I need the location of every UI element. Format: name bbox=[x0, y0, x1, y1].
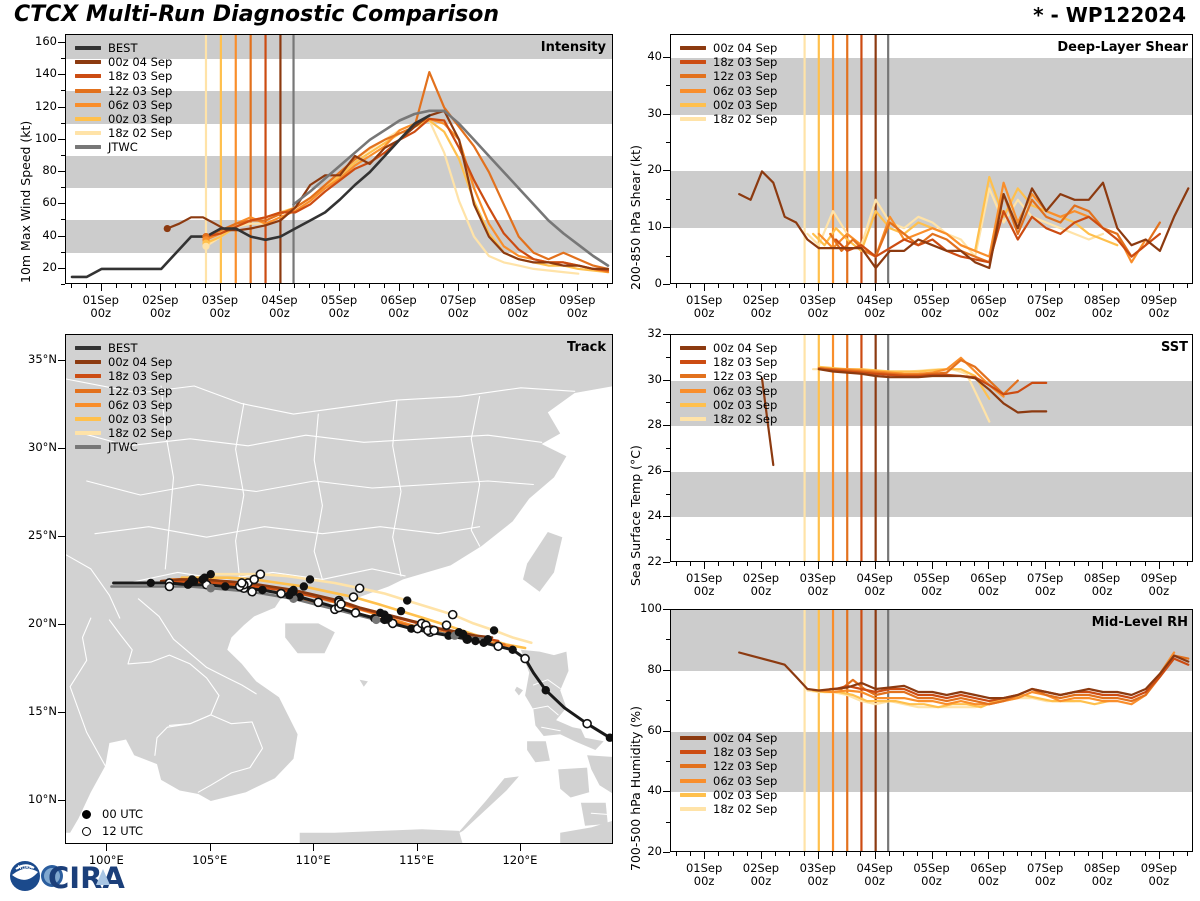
x-axis-minor-tick bbox=[1187, 284, 1188, 288]
panay-island bbox=[558, 768, 589, 798]
y-axis-tick-label: 24 bbox=[624, 510, 662, 522]
y-axis-minor-tick bbox=[666, 539, 670, 540]
x-axis-minor-tick bbox=[832, 852, 833, 856]
x-axis-minor-tick bbox=[1059, 562, 1060, 566]
y-axis-tick-label: 10 bbox=[624, 221, 662, 233]
y-axis-tick-label: 60 bbox=[624, 725, 662, 737]
map-y-axis-tick bbox=[58, 800, 65, 801]
y-axis-tick bbox=[58, 203, 65, 204]
y-axis-tick bbox=[663, 380, 670, 381]
svg-text:CIRA: CIRA bbox=[48, 861, 125, 895]
x-axis-minor-tick bbox=[946, 562, 947, 566]
x-axis-minor-tick bbox=[960, 852, 961, 856]
x-axis-minor-tick bbox=[1003, 284, 1004, 288]
track-point-00utc bbox=[403, 596, 411, 604]
x-tick-date: 05Sep bbox=[321, 293, 357, 307]
x-axis-minor-tick bbox=[789, 852, 790, 856]
track-point-00utc bbox=[397, 607, 405, 615]
palawan-island bbox=[457, 776, 519, 834]
intensity-panel-label: Intensity bbox=[541, 40, 606, 55]
x-tick-date: 01Sep bbox=[83, 293, 119, 307]
track-legend-item: 00z 04 Sep bbox=[75, 355, 172, 369]
x-axis-minor-tick bbox=[718, 852, 719, 856]
x-axis-minor-tick bbox=[1031, 284, 1032, 288]
legend-color-swatch bbox=[75, 131, 101, 135]
x-axis-minor-tick bbox=[860, 284, 861, 288]
storm-id-label: * - WP122024 bbox=[1033, 3, 1186, 27]
map-x-axis-tick-label: 115°E bbox=[382, 854, 452, 867]
x-axis-tick bbox=[761, 562, 762, 569]
track-point-00utc bbox=[471, 637, 479, 645]
track-point-12utc bbox=[442, 621, 450, 629]
init-point-marker bbox=[164, 225, 171, 232]
x-tick-date: 01Sep bbox=[686, 861, 722, 875]
legend-item-label: 00z 04 Sep bbox=[713, 341, 777, 355]
x-axis-minor-tick bbox=[733, 562, 734, 566]
x-axis-minor-tick bbox=[145, 284, 146, 288]
y-axis-tick bbox=[663, 852, 670, 853]
y-axis-tick-label: 120 bbox=[19, 101, 57, 113]
x-axis-minor-tick bbox=[733, 852, 734, 856]
panel-shear: 200-850 hPa Shear (kt) Deep-Layer Shear … bbox=[610, 28, 1200, 328]
x-axis-minor-tick bbox=[413, 284, 414, 288]
y-axis-tick-label: 100 bbox=[19, 133, 57, 145]
intensity-legend-item: 12z 03 Sep bbox=[75, 84, 172, 98]
y-axis-tick bbox=[663, 731, 670, 732]
x-axis-minor-tick bbox=[775, 284, 776, 288]
legend-item-label: 18z 02 Sep bbox=[713, 802, 777, 816]
map-y-axis-tick bbox=[58, 536, 65, 537]
x-axis-minor-tick bbox=[1187, 562, 1188, 566]
map-y-axis-tick bbox=[58, 360, 65, 361]
x-axis-tick bbox=[875, 562, 876, 569]
legend-item-label: BEST bbox=[108, 41, 137, 55]
x-axis-minor-tick bbox=[1031, 852, 1032, 856]
x-tick-date: 08Sep bbox=[500, 293, 536, 307]
y-axis-minor-tick bbox=[666, 256, 670, 257]
x-axis-minor-tick bbox=[1059, 284, 1060, 288]
x-tick-date: 06Sep bbox=[970, 571, 1006, 585]
y-axis-tick bbox=[663, 334, 670, 335]
x-axis-minor-tick bbox=[1173, 562, 1174, 566]
x-tick-date: 02Sep bbox=[743, 861, 779, 875]
marker-legend-label: 12 UTC bbox=[102, 823, 143, 840]
y-axis-tick bbox=[663, 284, 670, 285]
legend-item-label: 06z 03 Sep bbox=[713, 774, 777, 788]
legend-color-swatch bbox=[680, 807, 706, 811]
legend-item-label: 12z 03 Sep bbox=[108, 84, 172, 98]
x-axis-minor-tick bbox=[960, 284, 961, 288]
legend-item-label: 06z 03 Sep bbox=[108, 398, 172, 412]
x-axis-minor-tick bbox=[804, 284, 805, 288]
x-axis-minor-tick bbox=[903, 852, 904, 856]
marker-legend-label: 00 UTC bbox=[102, 806, 143, 823]
legend-color-swatch bbox=[680, 750, 706, 754]
y-axis-tick-label: 30 bbox=[624, 108, 662, 120]
x-axis-minor-tick bbox=[294, 284, 295, 288]
track-legend-item: 18z 03 Sep bbox=[75, 369, 172, 383]
track-legend-item: BEST bbox=[75, 341, 172, 355]
legend-item-label: 18z 03 Sep bbox=[713, 55, 777, 69]
x-tick-hour: 00z bbox=[1124, 875, 1194, 888]
y-axis-tick bbox=[663, 562, 670, 563]
paracel-islands bbox=[360, 680, 368, 687]
shear-legend-item: 00z 03 Sep bbox=[680, 98, 777, 112]
track-point-12utc bbox=[352, 609, 360, 617]
x-tick-date: 07Sep bbox=[1027, 571, 1063, 585]
x-axis-tick bbox=[875, 284, 876, 291]
init-point-marker bbox=[202, 243, 209, 250]
x-axis-tick-label: 09Sep00z bbox=[1124, 294, 1194, 320]
x-axis-tick bbox=[704, 562, 705, 569]
x-tick-date: 09Sep bbox=[1141, 571, 1177, 585]
track-point-12utc bbox=[256, 570, 264, 578]
x-axis-minor-tick bbox=[946, 852, 947, 856]
x-tick-date: 06Sep bbox=[970, 861, 1006, 875]
x-axis-tick bbox=[220, 284, 221, 291]
legend-item-label: JTWC bbox=[108, 440, 138, 454]
panel-intensity: 10m Max Wind Speed (kt) Intensity BEST00… bbox=[0, 28, 620, 328]
legend-item-label: 00z 04 Sep bbox=[108, 55, 172, 69]
x-tick-date: 07Sep bbox=[440, 293, 476, 307]
x-axis-minor-tick bbox=[1145, 562, 1146, 566]
y-axis-tick bbox=[663, 170, 670, 171]
x-tick-date: 09Sep bbox=[559, 293, 595, 307]
map-y-axis-tick-label: 20°N bbox=[9, 618, 57, 630]
x-axis-tick bbox=[1159, 284, 1160, 291]
map-y-axis-tick bbox=[58, 624, 65, 625]
legend-color-swatch bbox=[680, 779, 706, 783]
map-y-axis-tick-label: 35°N bbox=[9, 354, 57, 366]
x-axis-tick bbox=[988, 852, 989, 859]
legend-item-label: 18z 03 Sep bbox=[108, 69, 172, 83]
sst-legend-item: 18z 02 Sep bbox=[680, 412, 777, 426]
legend-item-label: BEST bbox=[108, 341, 137, 355]
x-axis-tick bbox=[279, 284, 280, 291]
x-axis-minor-tick bbox=[1088, 284, 1089, 288]
y-axis-tick-label: 140 bbox=[19, 68, 57, 80]
x-tick-date: 07Sep bbox=[1027, 861, 1063, 875]
x-axis-minor-tick bbox=[175, 284, 176, 288]
luzon-island bbox=[521, 650, 604, 750]
noaa-emblem-icon: NOAA bbox=[10, 861, 40, 891]
data-series-line bbox=[836, 659, 1188, 702]
x-axis-minor-tick bbox=[1074, 284, 1075, 288]
y-axis-tick bbox=[663, 609, 670, 610]
y-axis-minor-tick bbox=[61, 58, 65, 59]
legend-color-swatch bbox=[75, 403, 101, 407]
track-point-12utc bbox=[583, 720, 591, 728]
legend-item-label: 00z 03 Sep bbox=[108, 412, 172, 426]
legend-item-label: 18z 02 Sep bbox=[713, 112, 777, 126]
x-axis-minor-tick bbox=[860, 852, 861, 856]
y-axis-tick bbox=[58, 42, 65, 43]
track-point-12utc bbox=[430, 626, 438, 634]
x-axis-minor-tick bbox=[789, 284, 790, 288]
legend-item-label: 06z 03 Sep bbox=[713, 384, 777, 398]
x-axis-tick bbox=[761, 852, 762, 859]
y-axis-minor-tick bbox=[666, 761, 670, 762]
x-axis-minor-tick bbox=[1017, 284, 1018, 288]
legend-color-swatch bbox=[680, 46, 706, 50]
x-tick-date: 02Sep bbox=[743, 571, 779, 585]
x-axis-minor-tick bbox=[804, 852, 805, 856]
mindoro-island bbox=[527, 741, 550, 762]
legend-color-swatch bbox=[75, 445, 101, 449]
x-axis-minor-tick bbox=[86, 284, 87, 288]
x-axis-minor-tick bbox=[1116, 562, 1117, 566]
x-axis-minor-tick bbox=[747, 284, 748, 288]
x-tick-date: 08Sep bbox=[1084, 861, 1120, 875]
track-point-00utc bbox=[147, 579, 155, 587]
diagnostic-comparison-page: CTCX Multi-Run Diagnostic Comparison * -… bbox=[0, 0, 1200, 900]
x-axis-minor-tick bbox=[889, 284, 890, 288]
panel-sst: Sea Surface Temp (°C) SST 00z 04 Sep18z … bbox=[610, 328, 1200, 603]
y-axis-minor-tick bbox=[61, 252, 65, 253]
x-axis-minor-tick bbox=[1116, 852, 1117, 856]
x-axis-tick bbox=[761, 284, 762, 291]
legend-item-label: 18z 03 Sep bbox=[713, 745, 777, 759]
legend-item-label: 12z 03 Sep bbox=[713, 759, 777, 773]
y-axis-minor-tick bbox=[61, 187, 65, 188]
taiwan-island bbox=[523, 532, 562, 592]
y-axis-tick bbox=[663, 227, 670, 228]
x-tick-date: 05Sep bbox=[913, 293, 949, 307]
intensity-legend-item: BEST bbox=[75, 41, 172, 55]
y-axis-tick-label: 32 bbox=[624, 328, 662, 340]
y-axis-tick-label: 40 bbox=[624, 51, 662, 63]
shear-legend-item: 12z 03 Sep bbox=[680, 69, 777, 83]
sst-panel-label: SST bbox=[1161, 340, 1188, 355]
intensity-legend-item: 18z 03 Sep bbox=[75, 69, 172, 83]
track-point-12utc bbox=[165, 582, 173, 590]
rh-legend: 00z 04 Sep18z 03 Sep12z 03 Sep06z 03 Sep… bbox=[680, 731, 777, 816]
legend-color-swatch bbox=[680, 389, 706, 393]
x-axis-minor-tick bbox=[1088, 562, 1089, 566]
track-legend-item: 06z 03 Sep bbox=[75, 398, 172, 412]
legend-item-label: 00z 03 Sep bbox=[713, 788, 777, 802]
legend-color-swatch bbox=[75, 417, 101, 421]
y-axis-minor-tick bbox=[666, 199, 670, 200]
x-axis-tick bbox=[932, 562, 933, 569]
x-tick-date: 09Sep bbox=[1141, 861, 1177, 875]
track-point-00utc bbox=[258, 586, 266, 594]
y-axis-minor-tick bbox=[61, 155, 65, 156]
x-axis-minor-tick bbox=[1116, 284, 1117, 288]
legend-color-swatch bbox=[680, 374, 706, 378]
y-axis-tick-label: 100 bbox=[624, 603, 662, 615]
map-y-axis-tick-label: 25°N bbox=[9, 530, 57, 542]
x-axis-tick bbox=[818, 284, 819, 291]
x-tick-hour: 00z bbox=[542, 307, 612, 320]
legend-color-swatch bbox=[75, 103, 101, 107]
x-axis-minor-tick bbox=[190, 284, 191, 288]
x-axis-minor-tick bbox=[1003, 562, 1004, 566]
x-axis-minor-tick bbox=[1187, 852, 1188, 856]
legend-item-label: 12z 03 Sep bbox=[108, 384, 172, 398]
y-axis-tick bbox=[663, 425, 670, 426]
intensity-legend-item: 18z 02 Sep bbox=[75, 126, 172, 140]
y-axis-tick bbox=[58, 236, 65, 237]
rh-legend-item: 12z 03 Sep bbox=[680, 759, 777, 773]
x-axis-tick bbox=[518, 284, 519, 291]
map-x-axis-tick bbox=[417, 844, 418, 851]
x-axis-minor-tick bbox=[747, 852, 748, 856]
x-axis-tick bbox=[577, 284, 578, 291]
sst-legend-item: 00z 04 Sep bbox=[680, 341, 777, 355]
y-axis-minor-tick bbox=[666, 357, 670, 358]
track-point-12utc bbox=[238, 579, 246, 587]
y-axis-minor-tick bbox=[666, 85, 670, 86]
legend-color-swatch bbox=[680, 417, 706, 421]
x-axis-minor-tick bbox=[369, 284, 370, 288]
y-axis-minor-tick bbox=[61, 284, 65, 285]
legend-color-swatch bbox=[75, 89, 101, 93]
x-axis-minor-tick bbox=[832, 562, 833, 566]
rh-panel-label: Mid-Level RH bbox=[1092, 615, 1188, 630]
x-axis-tick bbox=[932, 284, 933, 291]
x-axis-minor-tick bbox=[205, 284, 206, 288]
small-island bbox=[515, 687, 523, 696]
legend-color-swatch bbox=[680, 360, 706, 364]
x-axis-tick bbox=[1045, 284, 1046, 291]
y-axis-tick bbox=[663, 114, 670, 115]
x-axis-minor-tick bbox=[718, 562, 719, 566]
track-point-00utc bbox=[188, 575, 196, 583]
x-tick-date: 05Sep bbox=[913, 571, 949, 585]
filled-dot-icon bbox=[82, 810, 91, 819]
map-y-axis-tick bbox=[58, 448, 65, 449]
legend-item-label: 00z 04 Sep bbox=[713, 41, 777, 55]
map-x-axis-tick bbox=[313, 844, 314, 851]
x-axis-tick bbox=[1102, 852, 1103, 859]
legend-item-label: 00z 04 Sep bbox=[713, 731, 777, 745]
legend-color-swatch bbox=[680, 346, 706, 350]
x-axis-minor-tick bbox=[903, 284, 904, 288]
x-axis-minor-tick bbox=[676, 852, 677, 856]
x-axis-minor-tick bbox=[1130, 852, 1131, 856]
sst-legend-item: 06z 03 Sep bbox=[680, 384, 777, 398]
y-axis-minor-tick bbox=[61, 219, 65, 220]
track-point-00utc bbox=[490, 626, 498, 634]
track-point-00utc bbox=[207, 570, 215, 578]
legend-item-label: 12z 03 Sep bbox=[713, 69, 777, 83]
x-axis-minor-tick bbox=[592, 284, 593, 288]
map-y-axis-tick-label: 10°N bbox=[9, 794, 57, 806]
x-axis-minor-tick bbox=[775, 562, 776, 566]
track-point-12utc bbox=[349, 593, 357, 601]
data-series-line bbox=[813, 177, 1117, 251]
x-axis-minor-tick bbox=[324, 284, 325, 288]
x-axis-minor-tick bbox=[1088, 852, 1089, 856]
y-axis-tick-label: 28 bbox=[624, 419, 662, 431]
intensity-legend-item: 06z 03 Sep bbox=[75, 98, 172, 112]
x-axis-tick bbox=[988, 284, 989, 291]
y-axis-tick-label: 20 bbox=[624, 164, 662, 176]
map-x-axis-tick-label: 120°E bbox=[485, 854, 555, 867]
legend-color-swatch bbox=[680, 736, 706, 740]
x-axis-tick bbox=[875, 852, 876, 859]
track-marker-legend: 00 UTC12 UTC bbox=[78, 806, 143, 840]
legend-color-swatch bbox=[680, 403, 706, 407]
x-axis-minor-tick bbox=[676, 284, 677, 288]
open-dot-icon bbox=[82, 827, 91, 836]
legend-item-label: 18z 03 Sep bbox=[713, 355, 777, 369]
rh-legend-item: 06z 03 Sep bbox=[680, 774, 777, 788]
legend-item-label: 18z 02 Sep bbox=[713, 412, 777, 426]
x-axis-minor-tick bbox=[1074, 562, 1075, 566]
track-point-12utc bbox=[277, 590, 285, 598]
page-title: CTCX Multi-Run Diagnostic Comparison bbox=[14, 2, 499, 27]
map-x-axis-tick-label: 110°E bbox=[278, 854, 348, 867]
y-axis-minor-tick bbox=[666, 142, 670, 143]
x-axis-minor-tick bbox=[1145, 284, 1146, 288]
x-axis-tick bbox=[1102, 284, 1103, 291]
y-axis-tick-label: 30 bbox=[624, 374, 662, 386]
y-axis-tick-label: 40 bbox=[624, 785, 662, 797]
x-axis-minor-tick bbox=[1173, 852, 1174, 856]
map-x-axis-tick bbox=[106, 844, 107, 851]
map-x-axis-tick bbox=[520, 844, 521, 851]
x-axis-minor-tick bbox=[903, 562, 904, 566]
x-axis-tick bbox=[339, 284, 340, 291]
x-axis-minor-tick bbox=[718, 284, 719, 288]
y-axis-tick bbox=[663, 57, 670, 58]
legend-color-swatch bbox=[680, 793, 706, 797]
x-axis-minor-tick bbox=[1074, 852, 1075, 856]
legend-item-label: 12z 03 Sep bbox=[713, 369, 777, 383]
track-point-00utc bbox=[463, 635, 471, 643]
y-axis-tick-label: 26 bbox=[624, 465, 662, 477]
x-tick-date: 06Sep bbox=[380, 293, 416, 307]
x-axis-tick bbox=[458, 284, 459, 291]
x-axis-tick bbox=[1159, 852, 1160, 859]
x-axis-minor-tick bbox=[250, 284, 251, 288]
x-axis-minor-tick bbox=[917, 284, 918, 288]
track-panel-label: Track bbox=[567, 340, 606, 355]
x-axis-minor-tick bbox=[503, 284, 504, 288]
y-axis-tick-label: 0 bbox=[624, 278, 662, 290]
map-y-axis-tick bbox=[58, 712, 65, 713]
data-series-line bbox=[739, 171, 1188, 268]
x-axis-minor-tick bbox=[607, 284, 608, 288]
x-tick-hour: 00z bbox=[1124, 307, 1194, 320]
y-axis-tick bbox=[663, 471, 670, 472]
x-tick-date: 02Sep bbox=[142, 293, 178, 307]
x-axis-minor-tick bbox=[747, 562, 748, 566]
x-axis-minor-tick bbox=[235, 284, 236, 288]
x-axis-minor-tick bbox=[1059, 852, 1060, 856]
x-axis-tick bbox=[704, 852, 705, 859]
x-tick-date: 03Sep bbox=[800, 861, 836, 875]
x-tick-date: 02Sep bbox=[743, 293, 779, 307]
sst-legend-item: 12z 03 Sep bbox=[680, 369, 777, 383]
x-axis-minor-tick bbox=[1017, 852, 1018, 856]
intensity-legend: BEST00z 04 Sep18z 03 Sep12z 03 Sep06z 03… bbox=[75, 41, 172, 155]
legend-item-label: 00z 03 Sep bbox=[713, 398, 777, 412]
y-axis-tick-label: 40 bbox=[19, 230, 57, 242]
x-axis-minor-tick bbox=[71, 284, 72, 288]
map-x-axis-tick bbox=[210, 844, 211, 851]
legend-color-swatch bbox=[75, 60, 101, 64]
borneo-landmass bbox=[300, 829, 463, 844]
track-point-00utc bbox=[207, 584, 215, 592]
x-axis-minor-tick bbox=[789, 562, 790, 566]
x-axis-minor-tick bbox=[846, 562, 847, 566]
legend-item-label: 06z 03 Sep bbox=[713, 84, 777, 98]
y-axis-tick-label: 60 bbox=[19, 197, 57, 209]
x-axis-tick bbox=[1045, 852, 1046, 859]
